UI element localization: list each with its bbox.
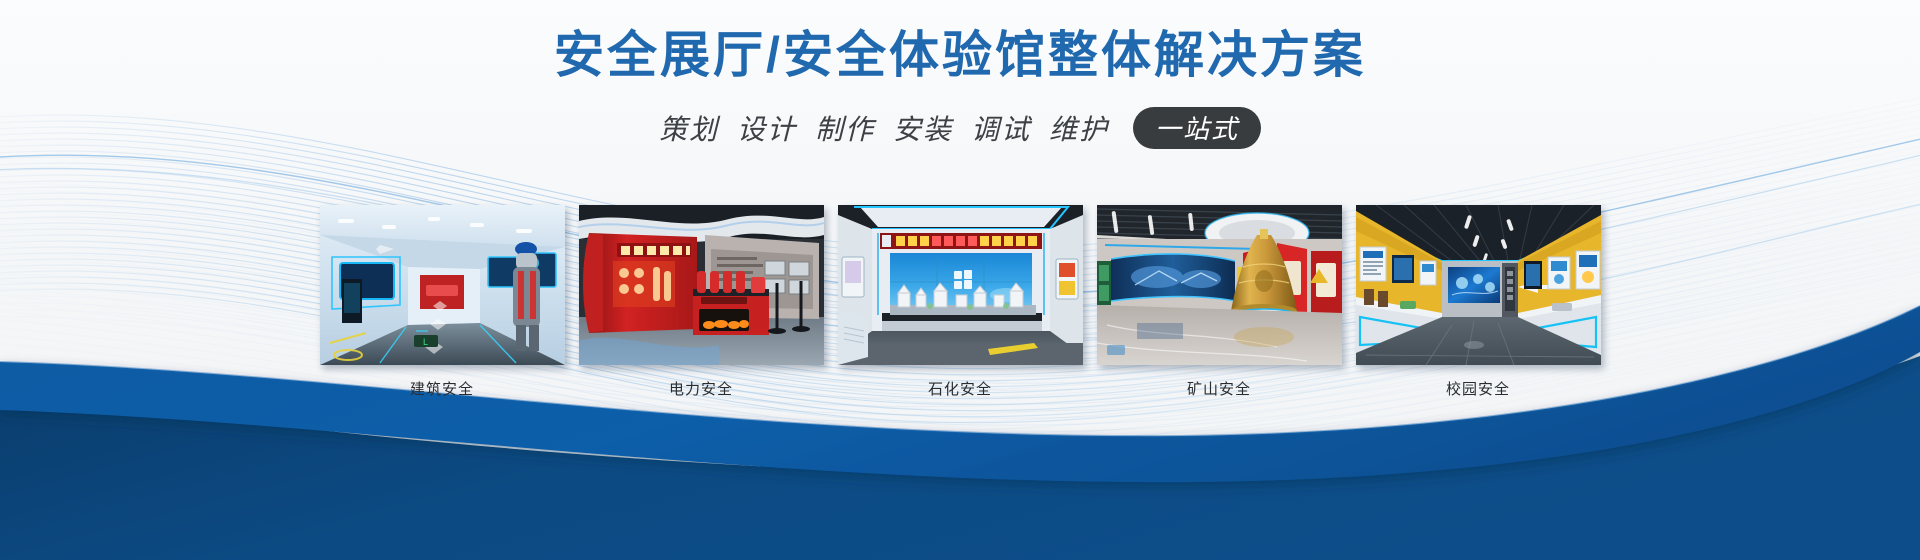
svg-text:L: L [423,337,428,347]
card-construction-safety[interactable]: L 建筑安全 [320,205,565,399]
safety-exhibition-banner: 安全展厅/安全体验馆整体解决方案 策划 设计 制作 安装 调试 维护 一站式 [0,0,1920,560]
service-steps-row: 策划 设计 制作 安装 调试 维护 一站式 [0,107,1920,149]
mining-safety-exhibition-hall-photo[interactable] [1097,205,1342,365]
card-caption: 石化安全 [838,378,1083,399]
headline-area: 安全展厅/安全体验馆整体解决方案 策划 设计 制作 安装 调试 维护 一站式 [0,0,1920,149]
card-caption: 建筑安全 [320,378,565,399]
card-caption: 矿山安全 [1097,378,1342,399]
card-campus-safety[interactable]: 校园安全 [1356,205,1601,399]
petrochemical-safety-exhibition-hall-photo[interactable] [838,205,1083,365]
page-title: 安全展厅/安全体验馆整体解决方案 [0,0,1920,87]
construction-safety-exhibition-hall-photo[interactable]: L [320,205,565,365]
card-caption: 校园安全 [1356,378,1601,399]
exhibition-case-card-list: L 建筑安全 [0,205,1920,399]
service-step-planning: 策划 [659,108,719,148]
service-step-installation: 安装 [893,108,953,148]
campus-safety-exhibition-hall-photo[interactable] [1356,205,1601,365]
service-step-design: 设计 [737,108,797,148]
power-safety-exhibition-hall-photo[interactable] [579,205,824,365]
service-step-maintenance: 维护 [1049,108,1109,148]
card-caption: 电力安全 [579,378,824,399]
card-mining-safety[interactable]: 矿山安全 [1097,205,1342,399]
card-petrochemical-safety[interactable]: 石化安全 [838,205,1083,399]
service-step-production: 制作 [815,108,875,148]
service-step-commissioning: 调试 [971,108,1031,148]
one-stop-service-badge: 一站式 [1133,107,1261,149]
card-power-safety[interactable]: 电力安全 [579,205,824,399]
